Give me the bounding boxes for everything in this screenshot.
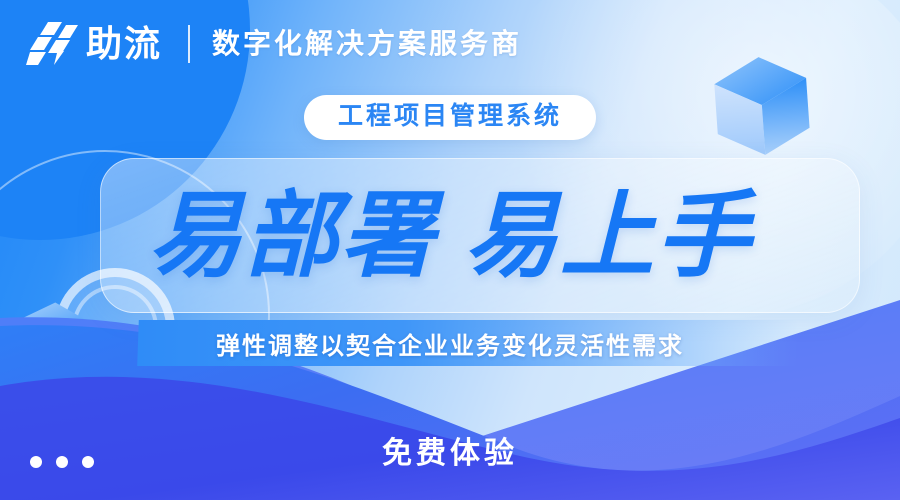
dot (82, 456, 94, 468)
cta-free-trial[interactable]: 免费体验 (0, 428, 900, 472)
dot (30, 456, 42, 468)
banner-header: 助流 数字化解决方案服务商 (0, 0, 900, 88)
header-divider (188, 25, 190, 63)
subtitle-text: 弹性调整以契合企业业务变化灵活性需求 (0, 320, 900, 366)
zhuliu-lightning-logo-icon (26, 21, 78, 67)
dot-decoration-group (30, 456, 94, 468)
logo-wordmark: 助流 (86, 26, 162, 62)
hero-headline: 易部署 易上手 (0, 168, 900, 303)
header-tagline: 数字化解决方案服务商 (212, 30, 522, 58)
promo-banner: 助流 数字化解决方案服务商 工程项目管理系统 易部署 易上手 弹性调整以契合企业… (0, 0, 900, 500)
dot (56, 456, 68, 468)
product-badge-label: 工程项目管理系统 (338, 104, 562, 129)
product-badge: 工程项目管理系统 (304, 95, 596, 140)
